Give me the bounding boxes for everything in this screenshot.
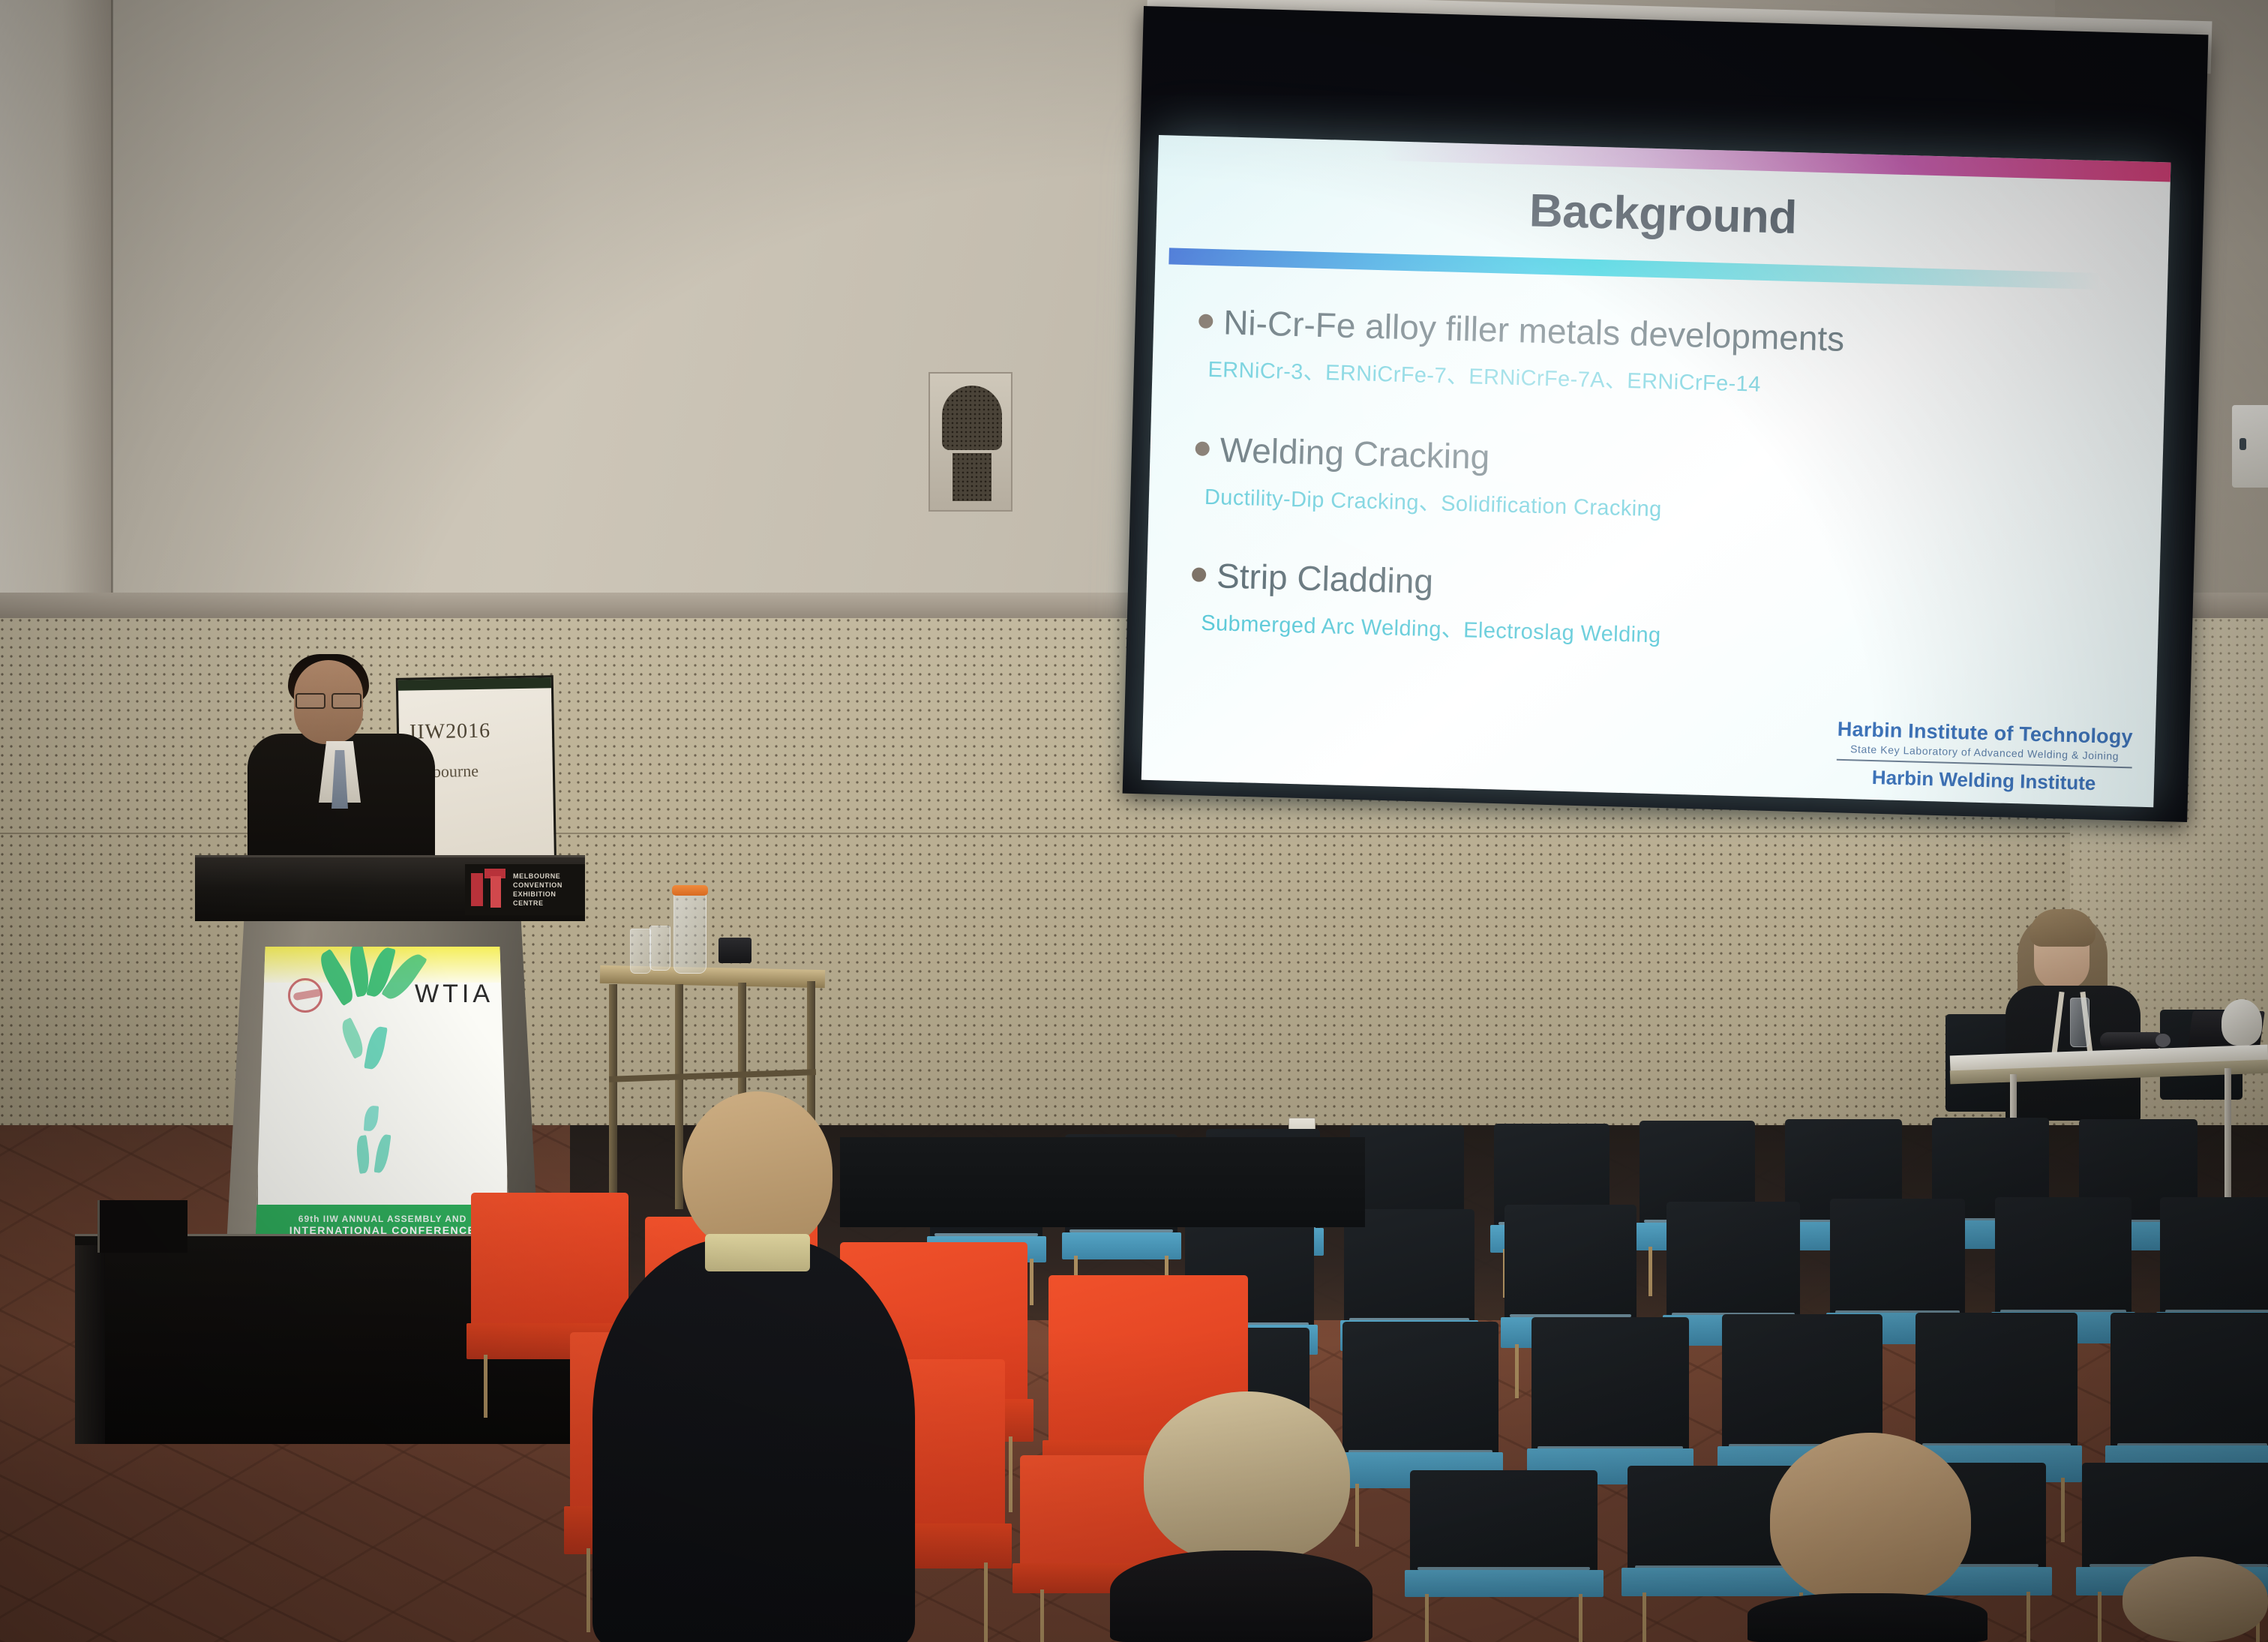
slide-title: Background [1156, 174, 2170, 254]
bullet-dot-icon [1198, 314, 1213, 329]
front-table-block [840, 1137, 1365, 1227]
audience-torso [592, 1238, 915, 1642]
water-bottle [2070, 998, 2089, 1047]
audience-head [2122, 1556, 2268, 1642]
wtia-logo: WTIA [415, 980, 493, 1009]
glasses-icon [294, 693, 363, 706]
slide-footer: Harbin Institute of Technology State Key… [1836, 718, 2133, 797]
audience-member [1747, 1433, 1987, 1642]
drinking-glass [630, 929, 651, 974]
audience-torso [1110, 1550, 1372, 1642]
conference-line-1: 69th IIW ANNUAL ASSEMBLY AND [298, 1214, 466, 1224]
carafe-lid [672, 885, 708, 896]
audience-collar [705, 1234, 810, 1271]
bullet-dot-icon [1195, 442, 1210, 457]
drinking-glass [649, 926, 670, 971]
chair [1410, 1470, 1597, 1642]
venue-logo-text: MELBOURNE CONVENTION EXHIBITION CENTRE [513, 872, 562, 908]
footer-institute: Harbin Welding Institute [1836, 765, 2132, 797]
audience-member [592, 1091, 915, 1642]
speaker-grille-top [942, 386, 1002, 450]
speaker-grille-bottom [952, 453, 991, 501]
wall-seam [111, 0, 113, 630]
slide-bullet-3: Strip Cladding Submerged Arc Welding、Ele… [1190, 554, 2129, 662]
stage-step [97, 1200, 187, 1253]
presentation-slide: Background Ni-Cr-Fe alloy filler metals … [1141, 135, 2171, 807]
venue-line-2: CONVENTION [513, 881, 562, 890]
mcec-mark-icon [471, 869, 505, 908]
audience-head [682, 1091, 832, 1253]
venue-line-1: MELBOURNE [513, 872, 562, 881]
conference-room-photo: Background Ni-Cr-Fe alloy filler metals … [0, 0, 2268, 1642]
bullet-dot-icon [1192, 568, 1207, 583]
iiw-logo-icon [288, 978, 322, 1013]
slide-bullet-2: Welding Cracking Ductility-Dip Cracking、… [1193, 428, 2132, 536]
bullet-3-heading: Strip Cladding [1216, 556, 1433, 601]
audience-member [2122, 1556, 2268, 1642]
audience-torso [1747, 1593, 1987, 1642]
slide-title-rule [1168, 248, 2100, 290]
stage-riser-side [75, 1245, 105, 1444]
audience-member [1110, 1391, 1372, 1642]
venue-line-3: EXHIBITION [513, 890, 562, 899]
slide-bullet-1: Ni-Cr-Fe alloy filler metals development… [1197, 302, 2136, 409]
wall-device-icon [2232, 405, 2268, 488]
water-carafe [673, 891, 706, 974]
handheld-microphone-icon [2100, 1032, 2164, 1049]
audience-head [1144, 1391, 1350, 1564]
venue-line-4: CENTRE [513, 899, 562, 908]
table-lamp [2221, 999, 2262, 1046]
flipchart-text-2: bourne [433, 761, 479, 782]
moderator-hair-front [2029, 909, 2095, 947]
av-device [718, 938, 751, 963]
side-wall-left [0, 0, 112, 675]
bullet-2-heading: Welding Cracking [1219, 430, 1490, 476]
audience-head [1770, 1433, 1971, 1605]
bullet-1-heading: Ni-Cr-Fe alloy filler metals development… [1223, 302, 1845, 358]
wall-speaker-icon [928, 372, 1012, 512]
